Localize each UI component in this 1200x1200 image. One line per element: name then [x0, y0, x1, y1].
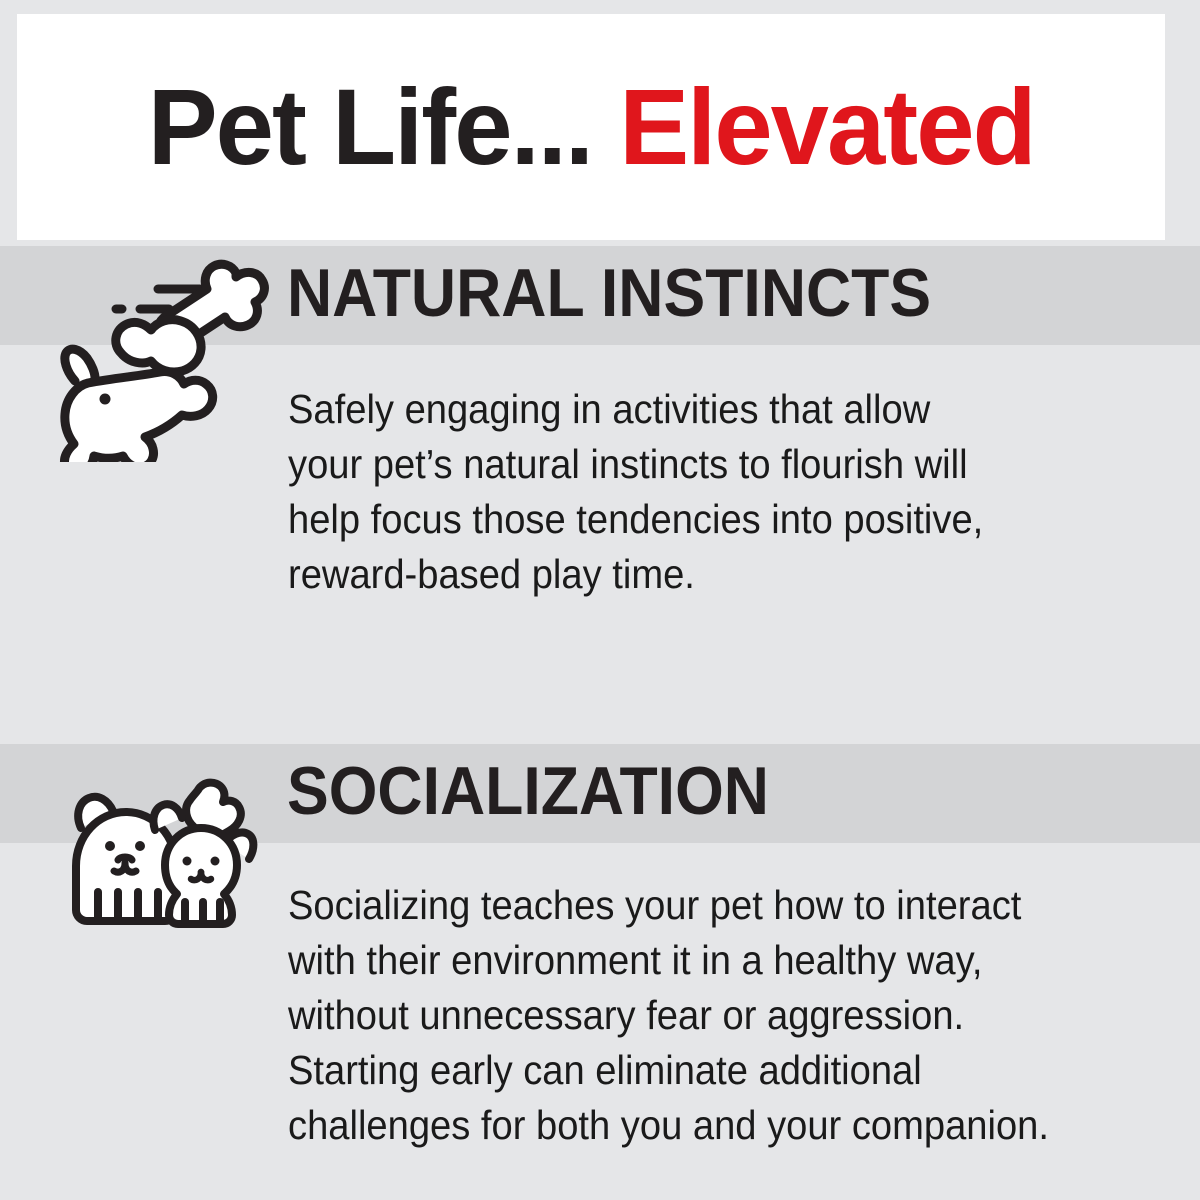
brand-tagline-primary: Pet Life... — [148, 66, 620, 187]
leaping-dog-with-bone-icon — [28, 252, 278, 462]
dog-and-cat-with-heart-icon — [48, 768, 268, 943]
section-body-natural-instincts: Safely engaging in activities that allow… — [288, 382, 1125, 602]
brand-tagline-accent: Elevated — [619, 66, 1034, 187]
section-body-socialization: Socializing teaches your pet how to inte… — [288, 878, 1125, 1153]
brand-tagline: Pet Life... Elevated — [148, 73, 1035, 181]
section-title-natural-instincts: NATURAL INSTINCTS — [287, 259, 931, 327]
brand-header: Pet Life... Elevated — [17, 14, 1165, 240]
section-title-socialization: SOCIALIZATION — [287, 757, 769, 825]
infographic-page: Pet Life... Elevated NATURAL INSTINCTS S… — [0, 0, 1200, 1200]
